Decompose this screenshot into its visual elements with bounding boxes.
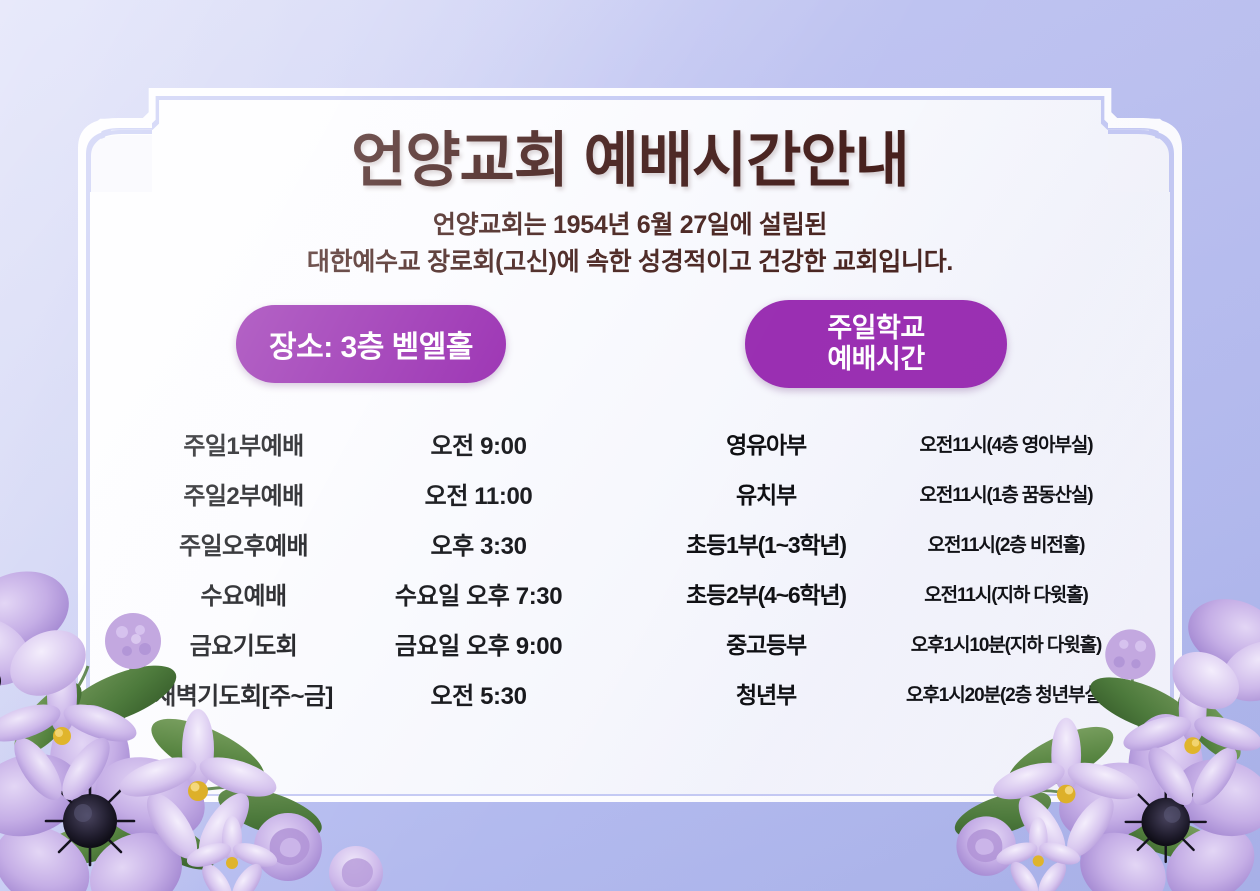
department-time: 오전11시(1층 꿈동산실) <box>884 480 1128 507</box>
department-time: 오전11시(4층 영아부실) <box>884 430 1128 457</box>
department-name: 초등1부(1~3학년) <box>648 526 884 560</box>
table-row: 초등2부(4~6학년) 오전11시(지하 다윗홀) <box>648 568 1128 618</box>
church-description: 언양교회는 1954년 6월 27일에 설립된 대한예수교 장로회(고신)에 속… <box>0 207 1260 280</box>
table-row: 주일오후예배 오후 3:30 <box>126 518 596 568</box>
location-badge-label: 장소: 3층 벧엘홀 <box>269 322 473 366</box>
main-service-schedule-list: 주일1부예배 오전 9:00 주일2부예배 오전 11:00 주일오후예배 오후… <box>126 418 596 718</box>
table-row: 청년부 오후1시20분(2층 청년부실) <box>648 668 1128 718</box>
department-name: 유치부 <box>648 476 884 510</box>
church-description-line-1: 언양교회는 1954년 6월 27일에 설립된 <box>0 207 1260 244</box>
department-time: 오후1시20분(2층 청년부실) <box>884 680 1128 707</box>
table-row: 금요기도회 금요일 오후 9:00 <box>126 618 596 668</box>
service-name: 새벽기도회[주~금] <box>126 676 361 711</box>
table-row: 유치부 오전11시(1층 꿈동산실) <box>648 468 1128 518</box>
department-name: 청년부 <box>648 676 884 710</box>
sunday-school-badge: 주일학교 예배시간 <box>745 300 1007 388</box>
church-service-schedule-poster: 언양교회 예배시간안내 언양교회는 1954년 6월 27일에 설립된 대한예수… <box>0 0 1260 891</box>
sunday-school-schedule-list: 영유아부 오전11시(4층 영아부실) 유치부 오전11시(1층 꿈동산실) 초… <box>648 418 1128 718</box>
service-time: 수요일 오후 7:30 <box>361 576 596 611</box>
department-time: 오전11시(지하 다윗홀) <box>884 580 1128 607</box>
department-time: 오전11시(2층 비전홀) <box>884 530 1128 557</box>
table-row: 수요예배 수요일 오후 7:30 <box>126 568 596 618</box>
service-name: 주일2부예배 <box>126 476 361 511</box>
department-name: 영유아부 <box>648 426 884 460</box>
sunday-school-badge-line-2: 예배시간 <box>827 344 924 375</box>
sunday-school-badge-line-1: 주일학교 <box>827 313 924 344</box>
location-badge: 장소: 3층 벧엘홀 <box>236 305 506 383</box>
service-name: 금요기도회 <box>126 626 361 661</box>
table-row: 중고등부 오후1시10분(지하 다윗홀) <box>648 618 1128 668</box>
service-name: 주일1부예배 <box>126 426 361 461</box>
service-time: 오전 5:30 <box>361 676 596 711</box>
department-time: 오후1시10분(지하 다윗홀) <box>884 630 1128 657</box>
page-title: 언양교회 예배시간안내 <box>0 112 1260 199</box>
church-description-line-2: 대한예수교 장로회(고신)에 속한 성경적이고 건강한 교회입니다. <box>0 244 1260 281</box>
poster-content: 언양교회 예배시간안내 언양교회는 1954년 6월 27일에 설립된 대한예수… <box>0 0 1260 891</box>
table-row: 주일2부예배 오전 11:00 <box>126 468 596 518</box>
department-name: 초등2부(4~6학년) <box>648 576 884 610</box>
sunday-school-badge-text: 주일학교 예배시간 <box>827 313 924 375</box>
service-time: 금요일 오후 9:00 <box>361 626 596 661</box>
department-name: 중고등부 <box>648 626 884 660</box>
service-name: 주일오후예배 <box>126 526 361 561</box>
table-row: 영유아부 오전11시(4층 영아부실) <box>648 418 1128 468</box>
service-time: 오전 9:00 <box>361 426 596 461</box>
service-time: 오후 3:30 <box>361 526 596 561</box>
service-time: 오전 11:00 <box>361 476 596 511</box>
table-row: 주일1부예배 오전 9:00 <box>126 418 596 468</box>
table-row: 새벽기도회[주~금] 오전 5:30 <box>126 668 596 718</box>
service-name: 수요예배 <box>126 576 361 611</box>
table-row: 초등1부(1~3학년) 오전11시(2층 비전홀) <box>648 518 1128 568</box>
